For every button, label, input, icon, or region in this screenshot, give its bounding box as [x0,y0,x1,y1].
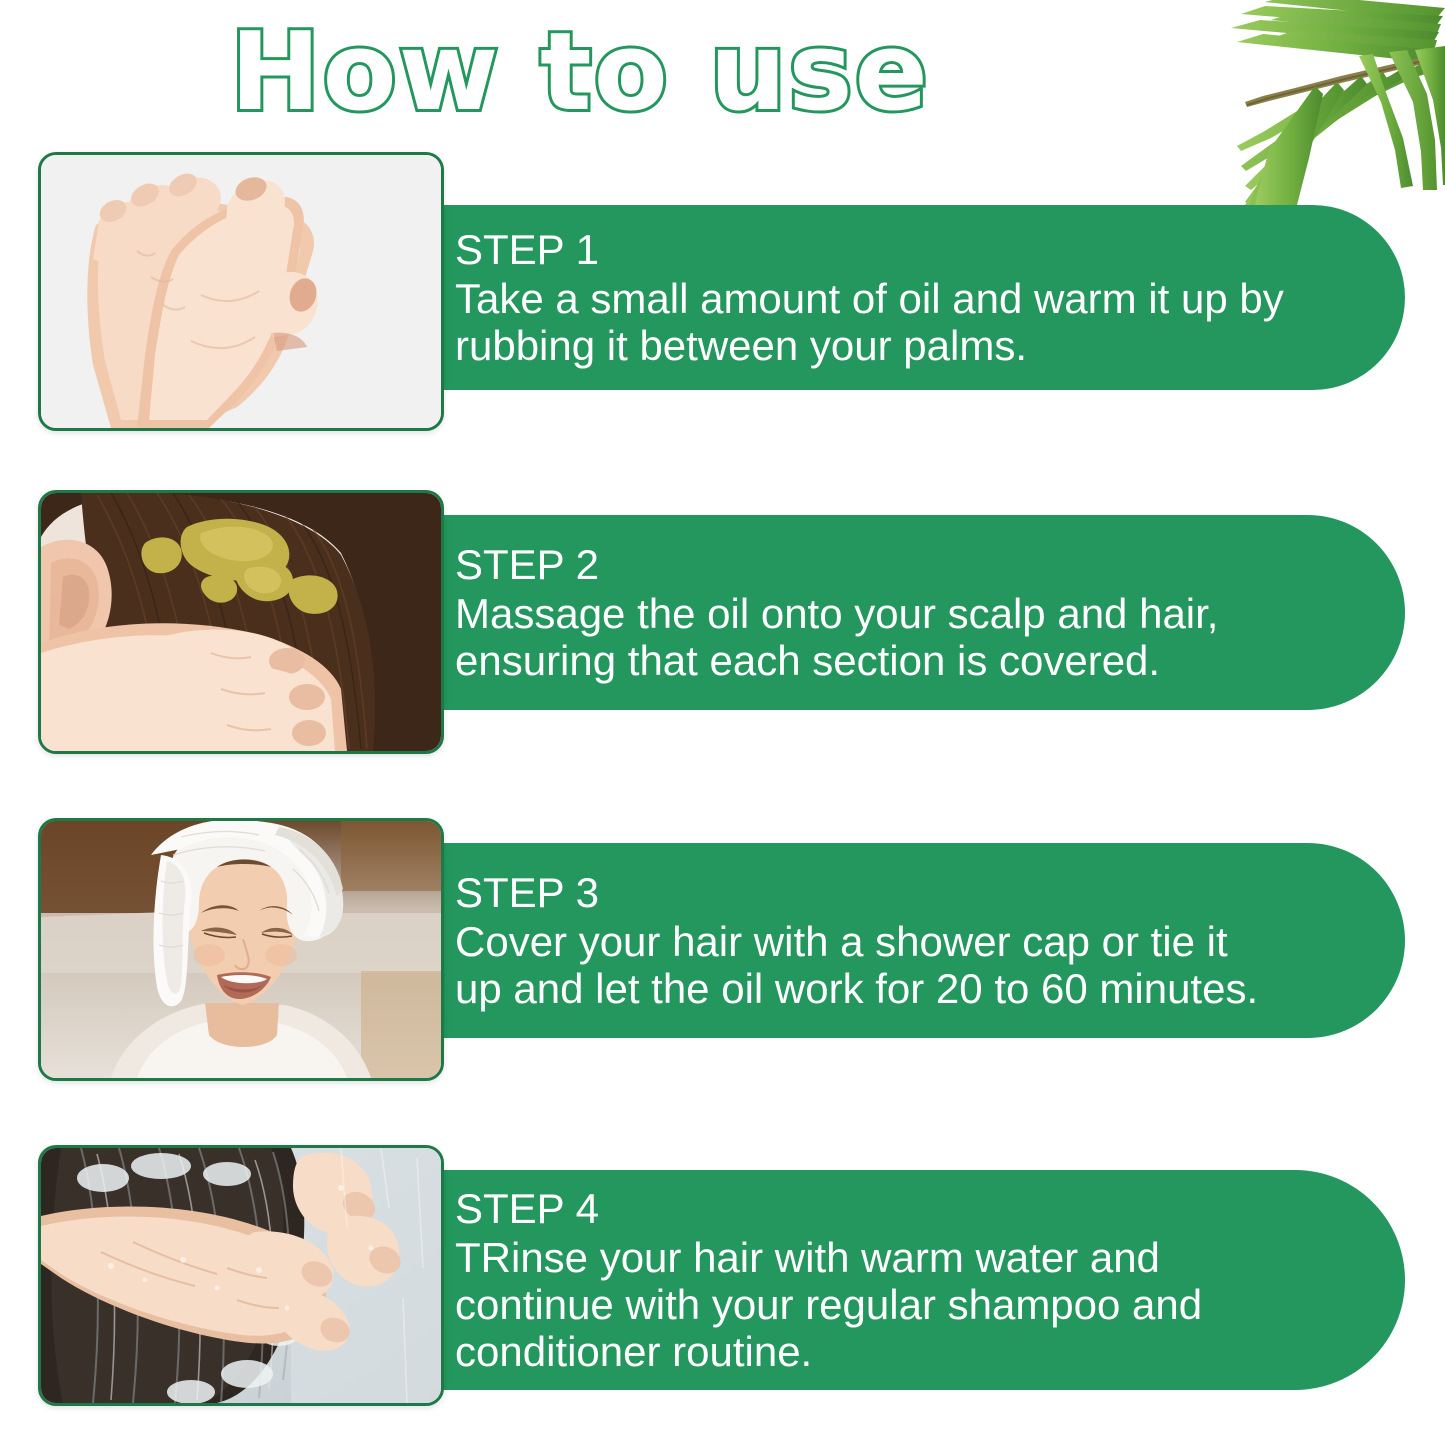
step-text-1-line-1: Take a small amount of oil and warm it u… [455,275,1285,322]
step-label-2: STEP 2 [455,541,1285,588]
infographic-page: How to use [0,0,1445,1445]
step-row-4: STEP 4 TRinse your hair with warm water … [0,980,1445,1430]
step-label-4: STEP 4 [455,1185,1285,1232]
rinsing-hair-photo [38,1145,444,1406]
step-text-4-line-1: TRinse your hair with warm water and [455,1234,1285,1281]
step-text-4-line-2: continue with your regular shampoo and [455,1281,1285,1328]
step-banner-4: STEP 4 TRinse your hair with warm water … [437,1170,1405,1390]
step-label-3: STEP 3 [455,869,1285,916]
step-text-3-line-1: Cover your hair with a shower cap or tie… [455,918,1285,965]
step-text-2-line-1: Massage the oil onto your scalp and hair… [455,590,1285,637]
step-text-4-line-3: conditioner routine. [455,1328,1285,1375]
step-label-1: STEP 1 [455,226,1285,273]
